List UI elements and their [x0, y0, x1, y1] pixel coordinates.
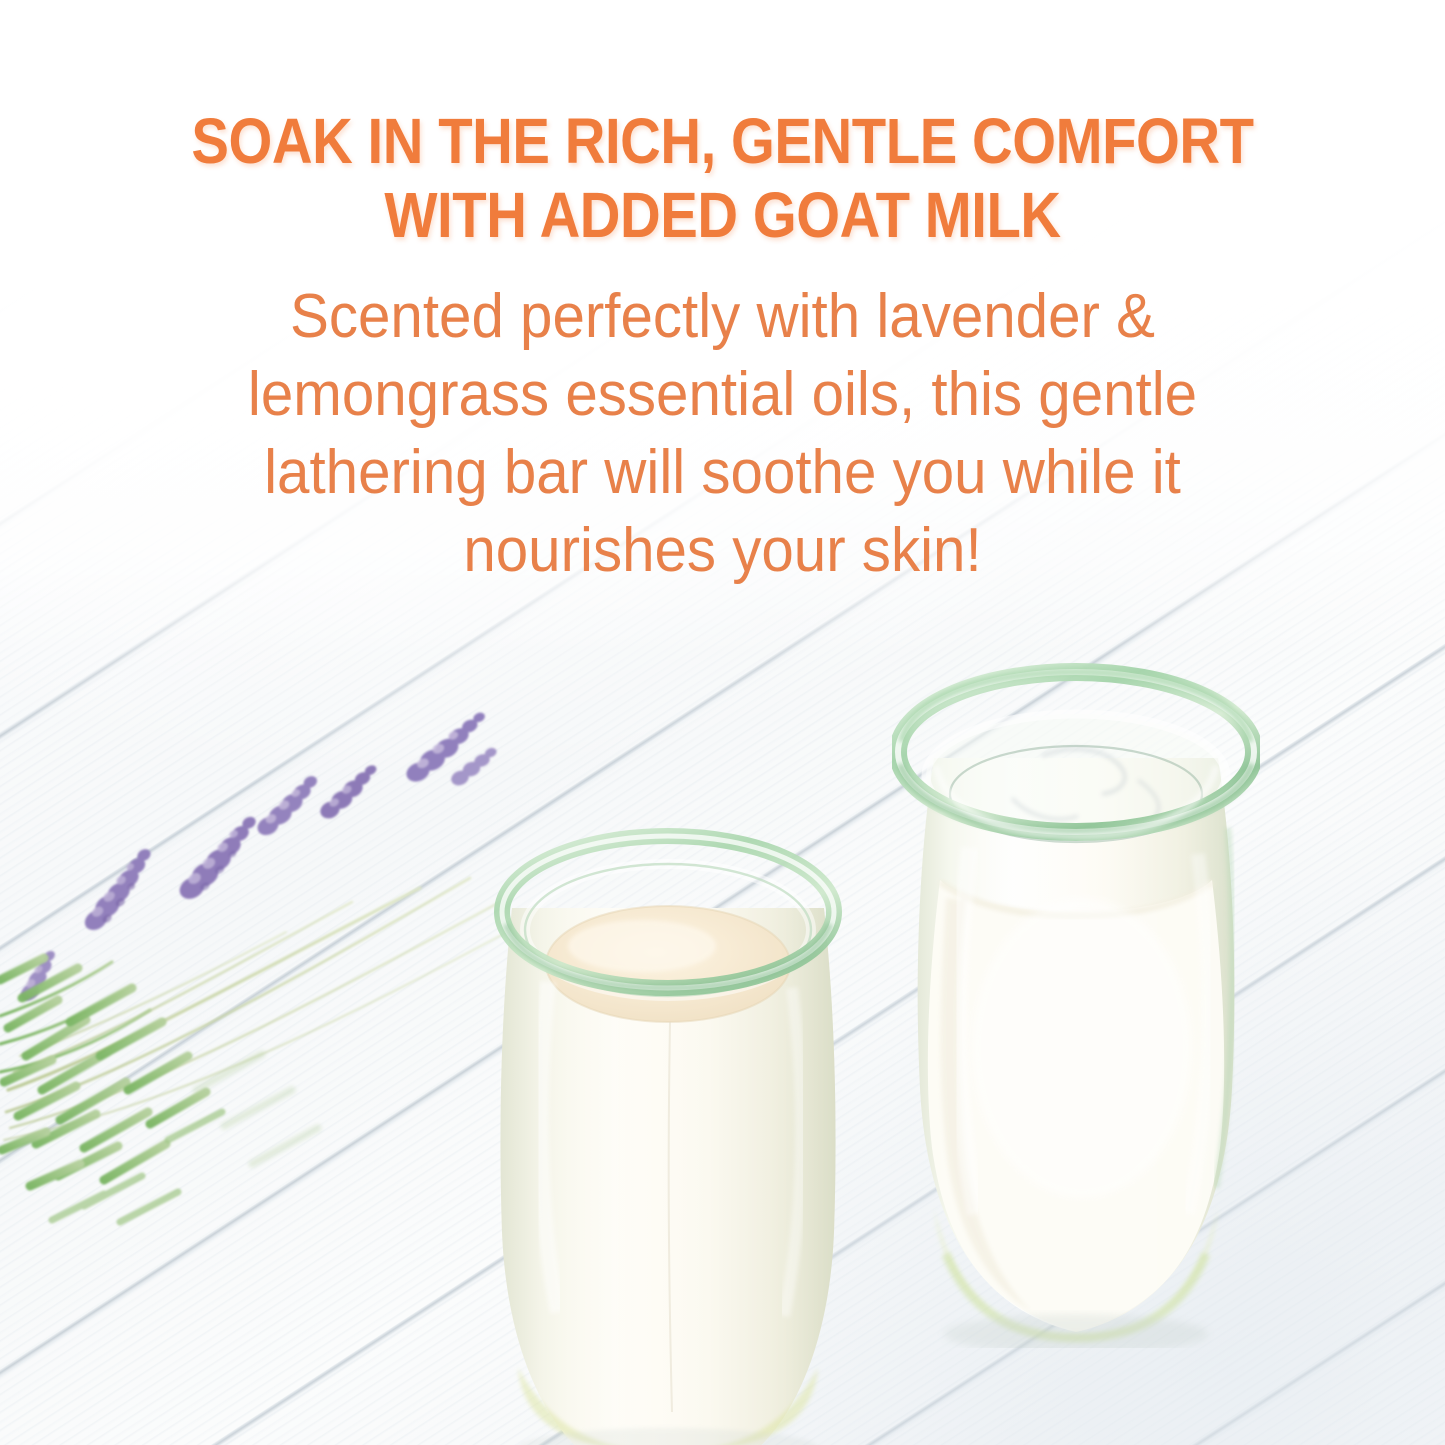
lavender-bloom	[395, 711, 498, 785]
subcopy-line-1: Scented perfectly with lavender &	[214, 278, 1230, 356]
product-banner: SOAK IN THE RICH, GENTLE COMFORT WITH AD…	[0, 0, 1445, 1445]
blurred-foliage	[196, 1054, 318, 1164]
banner-copy: SOAK IN THE RICH, GENTLE COMFORT WITH AD…	[0, 0, 1445, 590]
subcopy-line-2: lemongrass essential oils, this gentle	[214, 356, 1230, 434]
milk-jar-right	[892, 648, 1260, 1348]
subcopy-line-4: nourishes your skin!	[214, 512, 1230, 590]
subcopy-line-3: lathering bar will soothe you while it	[214, 434, 1230, 512]
lavender-bloom	[311, 763, 387, 821]
lavender-blooms	[10, 711, 504, 1004]
lavender-bloom	[68, 847, 170, 935]
page-title: SOAK IN THE RICH, GENTLE COMFORT WITH AD…	[87, 0, 1359, 252]
headline-line-1: SOAK IN THE RICH, GENTLE COMFORT	[140, 104, 1306, 178]
headline-line-2: WITH ADDED GOAT MILK	[140, 178, 1306, 252]
banner-subcopy: Scented perfectly with lavender & lemong…	[43, 252, 1401, 590]
milk-jar-left	[492, 812, 844, 1445]
lavender-bloom	[247, 774, 330, 839]
